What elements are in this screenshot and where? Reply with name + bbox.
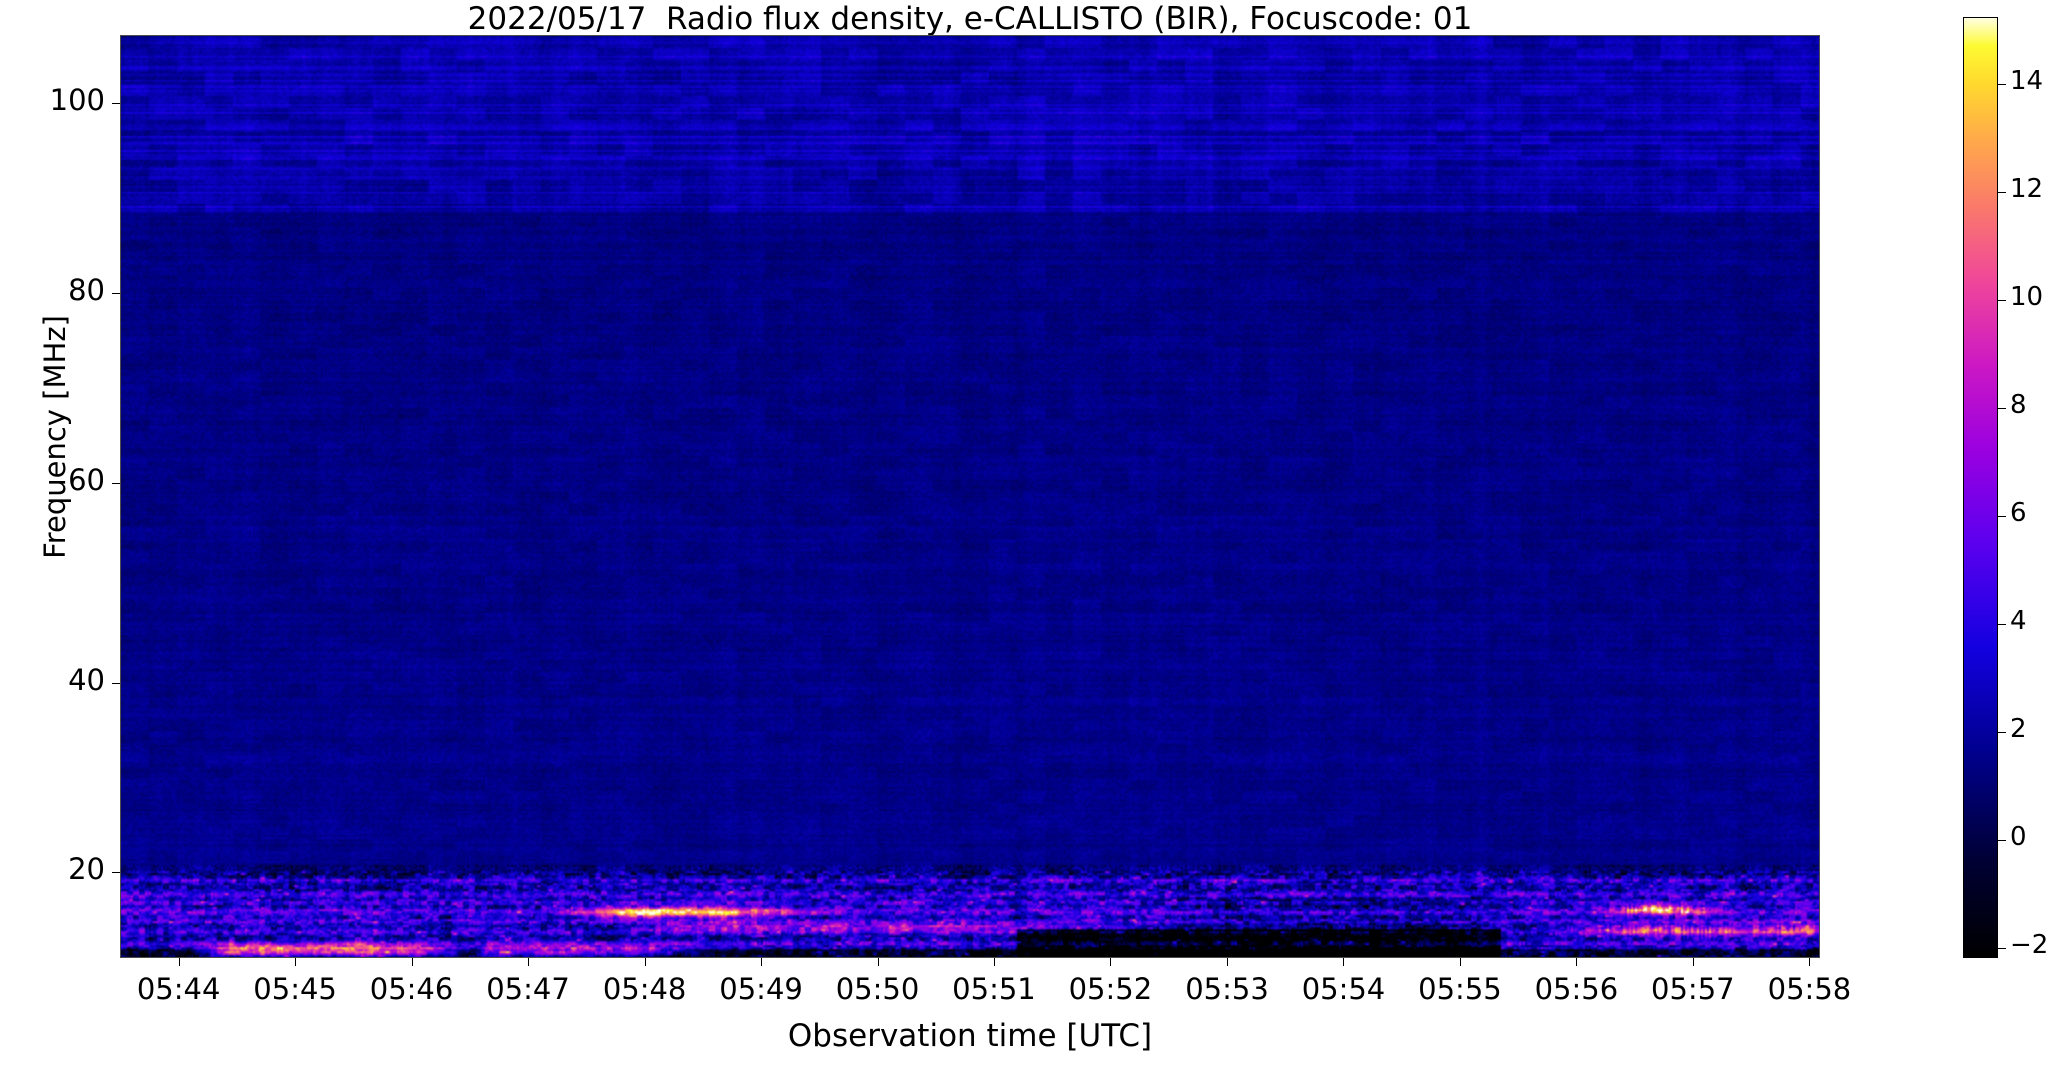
y-tick-mark — [112, 872, 120, 873]
colorbar-tick-mark — [1998, 84, 2006, 85]
colorbar-tick-mark — [1998, 948, 2006, 949]
y-axis-label: Frequency [MHz] — [38, 237, 72, 637]
colorbar-tick-label: 14 — [2010, 66, 2043, 96]
spectrogram-image — [121, 36, 1820, 958]
page-title: 2022/05/17 Radio flux density, e-CALLIST… — [0, 1, 1940, 37]
x-tick-mark — [1809, 958, 1810, 966]
x-tick-mark — [878, 958, 879, 966]
colorbar-tick-mark — [1998, 732, 2006, 733]
colorbar-tick-label: 6 — [2010, 498, 2027, 528]
x-tick-mark — [1693, 958, 1694, 966]
colorbar-tick-label: 12 — [2010, 174, 2043, 204]
colorbar-tick-label: 0 — [2010, 822, 2027, 852]
colorbar-tick-mark — [1998, 192, 2006, 193]
x-tick-mark — [645, 958, 646, 966]
x-tick-mark — [295, 958, 296, 966]
x-tick-mark — [1460, 958, 1461, 966]
y-tick-mark — [112, 483, 120, 484]
colorbar-tick-label: 2 — [2010, 714, 2027, 744]
x-tick-mark — [1343, 958, 1344, 966]
y-tick-label: 20 — [0, 852, 105, 886]
colorbar-tick-mark — [1998, 300, 2006, 301]
colorbar-gradient — [1964, 18, 1997, 957]
y-tick-label: 100 — [0, 83, 105, 117]
x-tick-mark — [994, 958, 995, 966]
y-tick-mark — [112, 103, 120, 104]
y-tick-mark — [112, 683, 120, 684]
colorbar-tick-mark — [1998, 840, 2006, 841]
x-tick-mark — [179, 958, 180, 966]
colorbar-tick-label: −2 — [2010, 930, 2048, 960]
x-tick-mark — [412, 958, 413, 966]
spectrogram-figure: 2022/05/17 Radio flux density, e-CALLIST… — [0, 0, 2066, 1067]
x-axis-label: Observation time [UTC] — [120, 1018, 1820, 1054]
colorbar-tick-mark — [1998, 516, 2006, 517]
colorbar-tick-mark — [1998, 408, 2006, 409]
y-tick-mark — [112, 293, 120, 294]
y-tick-label: 40 — [0, 663, 105, 697]
x-tick-mark — [1110, 958, 1111, 966]
x-tick-mark — [528, 958, 529, 966]
colorbar-tick-mark — [1998, 624, 2006, 625]
x-tick-mark — [1227, 958, 1228, 966]
colorbar-tick-label: 4 — [2010, 606, 2027, 636]
x-tick-mark — [761, 958, 762, 966]
x-tick-mark — [1576, 958, 1577, 966]
colorbar — [1963, 17, 1998, 958]
x-tick-label: 05:58 — [1729, 972, 1889, 1006]
colorbar-tick-label: 8 — [2010, 390, 2027, 420]
spectrogram-plot-area — [120, 35, 1820, 958]
colorbar-tick-label: 10 — [2010, 282, 2043, 312]
